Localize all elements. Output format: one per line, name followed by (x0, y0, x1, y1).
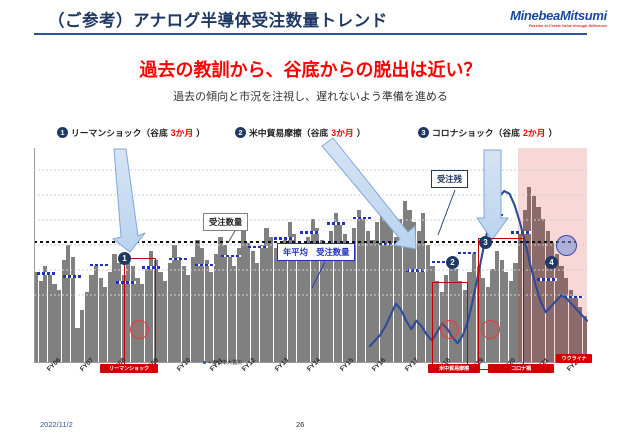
legend-label-2-pre: 米中貿易摩擦（谷底 (249, 126, 328, 139)
legend-label-3-post: ） (548, 126, 557, 139)
bar (527, 187, 531, 363)
bar (75, 328, 79, 363)
bar (426, 245, 430, 363)
legend-label-1-post: ） (196, 126, 205, 139)
legend-number-3: 3 (418, 127, 429, 138)
legend-label-2-post: ） (357, 126, 366, 139)
bar (246, 243, 250, 363)
bar (99, 278, 103, 363)
bar (370, 240, 374, 363)
header-divider (34, 33, 587, 35)
annual-average-segment (300, 231, 320, 234)
bar (48, 275, 52, 363)
page-title: （ご参考）アナログ半導体受注数量トレンド (48, 7, 448, 31)
bar (324, 248, 328, 363)
bar (205, 260, 209, 363)
bar (85, 292, 89, 363)
bar (357, 210, 361, 363)
bar (117, 263, 121, 363)
footer-date: 2022/11/2 (40, 420, 73, 429)
company-logo: MinebeaMitsumi Passion to Create Value t… (510, 8, 607, 28)
bar (209, 272, 213, 363)
event-box-3 (478, 238, 524, 370)
bar (260, 245, 264, 363)
annual-average-segment (485, 214, 505, 217)
annual-average-segment (195, 264, 215, 267)
footer-page-number: 26 (296, 420, 304, 429)
bar (232, 266, 236, 363)
bar (347, 245, 351, 363)
bar (389, 225, 393, 363)
bar (168, 263, 172, 363)
bar (421, 213, 425, 363)
sub-heading: 過去の傾向と市況を注視し、遅れないよう準備を進める (0, 88, 621, 104)
bar (66, 245, 70, 363)
bar (403, 201, 407, 363)
annual-average-segment (248, 246, 268, 249)
annual-average-segment (327, 222, 347, 225)
annual-average-segment (37, 272, 57, 275)
event-box-1 (124, 258, 156, 370)
bar (546, 231, 550, 363)
bar (237, 248, 241, 363)
legend-months-1: 3か月 (171, 126, 194, 139)
event-trough-circle-1 (130, 320, 149, 339)
event-trough-circle-2 (440, 320, 459, 339)
bar (71, 257, 75, 363)
bar (417, 231, 421, 363)
earthquake-note-label: ⇐東日本大震災 (208, 359, 242, 366)
bar (52, 284, 56, 363)
bar (564, 278, 568, 363)
annual-average-segment (63, 275, 83, 278)
annual-average-segment (511, 231, 531, 234)
bar (39, 281, 43, 363)
bar (103, 287, 107, 363)
legend-months-3: 2か月 (523, 126, 546, 139)
banner-lehman: リーマンショック (100, 364, 158, 373)
annual-average-segment (406, 269, 426, 272)
event-marker-4[interactable]: 4 (545, 256, 558, 269)
bar (177, 257, 181, 363)
bar (278, 257, 282, 363)
orders-callout: 受注数量 (203, 213, 248, 231)
bar (536, 207, 540, 363)
bar (384, 216, 388, 363)
bar (80, 310, 84, 363)
bar (472, 254, 476, 363)
logo-wordmark: MinebeaMitsumi (510, 8, 607, 23)
bar (108, 272, 112, 363)
bar (301, 254, 305, 363)
legend-label-3-pre: コロナショック（谷底 (432, 126, 520, 139)
logo-tagline: Passion to Create Value through Differen… (510, 24, 607, 28)
bar (94, 266, 98, 363)
event-marker-2[interactable]: 2 (446, 256, 459, 269)
event-marker-3[interactable]: 3 (479, 236, 492, 249)
legend-number-1: 1 (57, 127, 68, 138)
legend-months-2: 3か月 (331, 126, 354, 139)
bar (43, 266, 47, 363)
backlog-callout: 受注残 (431, 170, 468, 188)
main-heading: 過去の教訓から、谷底からの脱出は近い？ (0, 56, 621, 82)
bar (334, 213, 338, 363)
annual-average-segment (564, 296, 584, 299)
annual-average-segment (90, 264, 110, 267)
bar (214, 254, 218, 363)
bar (158, 272, 162, 363)
bar (255, 263, 259, 363)
bar (407, 210, 411, 363)
banner-ukraine: ウクライナ (556, 354, 592, 363)
annual-average-segment (221, 255, 241, 258)
bar (412, 222, 416, 363)
bar (172, 245, 176, 363)
bar (274, 248, 278, 363)
y-axis (34, 148, 35, 363)
annual-average-segment (353, 217, 373, 220)
bar (555, 254, 559, 363)
bar (241, 231, 245, 363)
event-legend: 1 リーマンショック（谷底 3か月 ） 2 米中貿易摩擦（谷底 3か月 ） 3 … (0, 126, 621, 142)
bar (57, 290, 61, 363)
slide: （ご参考）アナログ半導体受注数量トレンド MinebeaMitsumi Pass… (0, 0, 621, 438)
current-position-dot (556, 235, 577, 256)
legend-number-2: 2 (235, 127, 246, 138)
bar (251, 251, 255, 363)
legend-item-2: 2 米中貿易摩擦（谷底 3か月 ） (235, 126, 366, 139)
earthquake-dot-icon (203, 361, 206, 364)
banner-covid: コロナ禍 (488, 364, 554, 373)
bar (569, 290, 573, 363)
bar (191, 257, 195, 363)
bar (163, 281, 167, 363)
bar (559, 266, 563, 363)
annual-average-callout: 年平均 受注数量 (277, 243, 355, 261)
event-marker-1[interactable]: 1 (118, 252, 131, 265)
legend-item-1: 1 リーマンショック（谷底 3か月 ） (57, 126, 205, 139)
bar (366, 231, 370, 363)
bar (182, 266, 186, 363)
bar (228, 257, 232, 363)
bar (380, 204, 384, 363)
event-trough-circle-3 (481, 320, 500, 339)
bar (112, 254, 116, 363)
annual-average-segment (379, 243, 399, 246)
legend-label-1-pre: リーマンショック（谷底 (71, 126, 168, 139)
annual-average-segment (169, 258, 189, 261)
bar (89, 275, 93, 363)
bar (532, 196, 536, 363)
earthquake-note: ⇐東日本大震災 (203, 359, 242, 366)
banner-us-china: 米中貿易摩擦 (428, 364, 480, 373)
bar (223, 245, 227, 363)
annual-average-segment (537, 278, 557, 281)
bar (269, 237, 273, 363)
legend-item-3: 3 コロナショック（谷底 2か月 ） (418, 126, 557, 139)
bar (186, 275, 190, 363)
bar (394, 237, 398, 363)
annual-average-segment (458, 252, 478, 255)
bar (195, 240, 199, 363)
annual-average-segment (274, 237, 294, 240)
